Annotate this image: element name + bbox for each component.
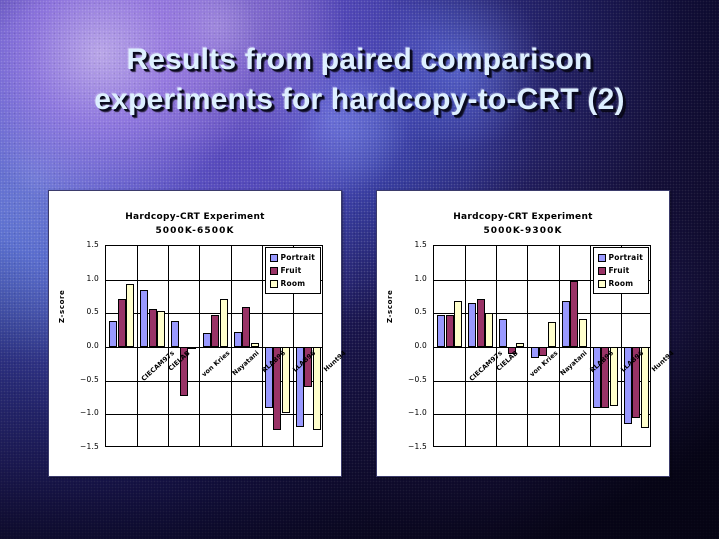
- bar-room: [126, 284, 134, 347]
- bar-portrait: [140, 290, 148, 347]
- legend-item-fruit[interactable]: Fruit: [598, 264, 643, 277]
- y-axis-tick-label: 0.0: [69, 341, 99, 350]
- bar-fruit: [446, 315, 454, 347]
- chart-title: Hardcopy-CRT Experiment5000K-6500K: [49, 210, 341, 238]
- y-axis-tick-label: 1.0: [69, 274, 99, 283]
- plot-area-wrapper: Z-scorePortraitFruitRoom1.51.00.50.0−0.5…: [377, 245, 669, 499]
- y-axis-tick-label: −0.5: [397, 375, 427, 384]
- bar-portrait: [265, 347, 273, 408]
- chart-title-main: Hardcopy-CRT Experiment: [377, 210, 669, 224]
- bar-fruit: [149, 309, 157, 347]
- gridline-vertical: [527, 246, 528, 446]
- legend-item-portrait[interactable]: Portrait: [270, 251, 315, 264]
- slide-title-line-1: Results from paired comparison: [0, 40, 719, 80]
- gridline-vertical: [137, 246, 138, 446]
- bar-room: [641, 347, 649, 428]
- bar-room: [579, 319, 587, 347]
- legend-item-label: Fruit: [609, 266, 630, 275]
- bar-portrait: [499, 319, 507, 347]
- slide-title-line-2: experiments for hardcopy-to-CRT (2): [0, 80, 719, 120]
- gridline-horizontal: [106, 414, 322, 415]
- bar-room: [516, 343, 524, 347]
- bar-room: [188, 347, 196, 349]
- bar-fruit: [211, 315, 219, 347]
- legend-item-fruit[interactable]: Fruit: [270, 264, 315, 277]
- gridline-vertical: [168, 246, 169, 446]
- bar-room: [157, 311, 165, 347]
- bar-fruit: [118, 299, 126, 347]
- gridline-horizontal: [106, 313, 322, 314]
- bar-room: [548, 322, 556, 347]
- y-axis-tick-label: −1.0: [69, 408, 99, 417]
- bar-portrait: [234, 332, 242, 347]
- bar-fruit: [242, 307, 250, 347]
- gridline-horizontal: [434, 414, 650, 415]
- bar-portrait: [562, 301, 570, 347]
- slide-title: Results from paired comparison experimen…: [0, 40, 719, 120]
- legend-swatch-portrait-icon: [270, 254, 278, 262]
- legend-item-label: Room: [609, 279, 634, 288]
- chart-title-main: Hardcopy-CRT Experiment: [49, 210, 341, 224]
- bar-portrait: [468, 303, 476, 347]
- legend-item-label: Portrait: [609, 253, 643, 262]
- chart-title: Hardcopy-CRT Experiment5000K-9300K: [377, 210, 669, 238]
- legend-swatch-room-icon: [270, 280, 278, 288]
- gridline-vertical: [199, 246, 200, 446]
- y-axis-tick-label: −0.5: [69, 375, 99, 384]
- bar-fruit: [477, 299, 485, 347]
- bar-room: [485, 313, 493, 347]
- plot-area: PortraitFruitRoom: [433, 245, 651, 447]
- bar-portrait: [531, 347, 539, 358]
- legend-item-room[interactable]: Room: [598, 277, 643, 290]
- y-axis-tick-label: −1.5: [397, 442, 427, 451]
- legend-swatch-fruit-icon: [270, 267, 278, 275]
- y-axis-tick-label: 0.5: [69, 307, 99, 316]
- bar-portrait: [437, 315, 445, 347]
- gridline-horizontal: [434, 313, 650, 314]
- bar-room: [454, 301, 462, 347]
- bar-portrait: [109, 321, 117, 347]
- bar-room: [251, 343, 259, 347]
- chart-title-subtitle: 5000K-6500K: [49, 224, 341, 238]
- y-axis-label: Z-score: [58, 290, 66, 323]
- y-axis-tick-label: 0.0: [397, 341, 427, 350]
- chart-panel-left: Hardcopy-CRT Experiment5000K-6500KZ-scor…: [48, 190, 342, 477]
- y-axis-tick-label: 1.5: [397, 240, 427, 249]
- legend-item-portrait[interactable]: Portrait: [598, 251, 643, 264]
- legend-swatch-room-icon: [598, 280, 606, 288]
- bar-fruit: [570, 281, 578, 347]
- gridline-vertical: [590, 246, 591, 446]
- gridline-vertical: [465, 246, 466, 446]
- chart-panel-right: Hardcopy-CRT Experiment5000K-9300KZ-scor…: [376, 190, 670, 477]
- bar-portrait: [171, 321, 179, 347]
- y-axis-tick-label: 0.5: [397, 307, 427, 316]
- y-axis-tick-label: −1.0: [397, 408, 427, 417]
- bar-room: [220, 299, 228, 347]
- gridline-vertical: [559, 246, 560, 446]
- y-axis-tick-label: 1.5: [69, 240, 99, 249]
- y-axis-tick-label: −1.5: [69, 442, 99, 451]
- plot-area: PortraitFruitRoom: [105, 245, 323, 447]
- legend-swatch-fruit-icon: [598, 267, 606, 275]
- legend-item-room[interactable]: Room: [270, 277, 315, 290]
- gridline-vertical: [496, 246, 497, 446]
- gridline-vertical: [231, 246, 232, 446]
- bar-portrait: [593, 347, 601, 408]
- gridline-vertical: [262, 246, 263, 446]
- legend-item-label: Portrait: [281, 253, 315, 262]
- legend-item-label: Fruit: [281, 266, 302, 275]
- bar-portrait: [203, 333, 211, 347]
- chart-legend: PortraitFruitRoom: [593, 247, 649, 294]
- legend-swatch-portrait-icon: [598, 254, 606, 262]
- y-axis-label: Z-score: [386, 290, 394, 323]
- chart-title-subtitle: 5000K-9300K: [377, 224, 669, 238]
- chart-legend: PortraitFruitRoom: [265, 247, 321, 294]
- plot-area-wrapper: Z-scorePortraitFruitRoom1.51.00.50.0−0.5…: [49, 245, 341, 499]
- y-axis-tick-label: 1.0: [397, 274, 427, 283]
- bar-room: [313, 347, 321, 430]
- legend-item-label: Room: [281, 279, 306, 288]
